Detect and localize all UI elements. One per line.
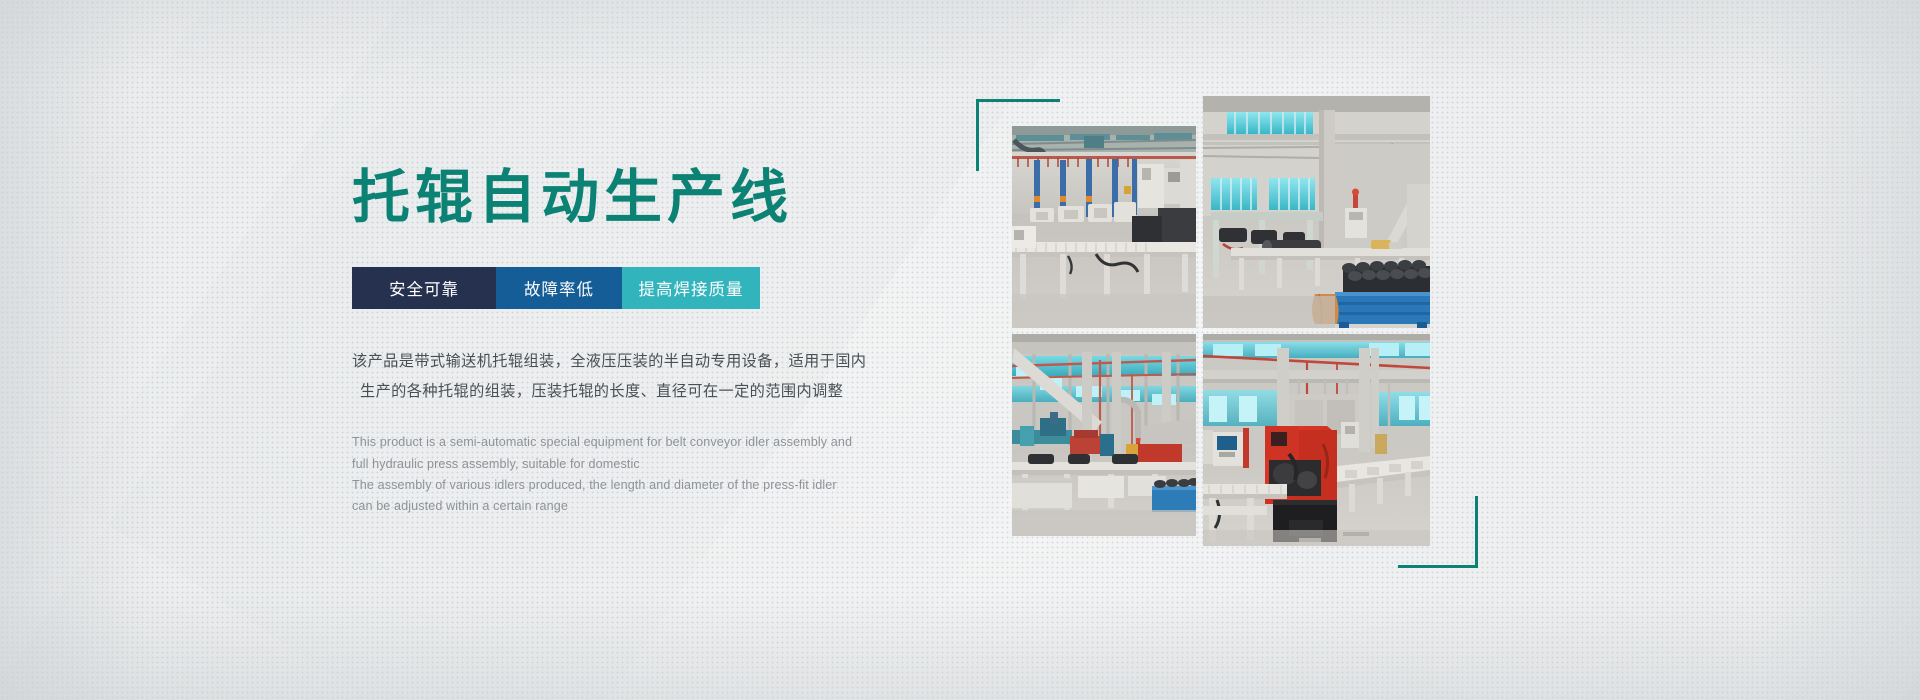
description-english-line-1: This product is a semi-automatic special… [352, 432, 912, 452]
photo-grid [1012, 96, 1430, 546]
feature-badge-safety[interactable]: 安全可靠 [352, 267, 496, 309]
text-column: 托辊自动生产线 安全可靠 故障率低 提高焊接质量 该产品是带式输送机托辊组装，全… [352, 166, 972, 517]
feature-badge-weld-quality[interactable]: 提高焊接质量 [622, 267, 760, 309]
photo-idler-storage-bin[interactable] [1203, 96, 1430, 328]
feature-badge-low-failure[interactable]: 故障率低 [496, 267, 622, 309]
page-title: 托辊自动生产线 [352, 166, 972, 231]
description-english-line-3: The assembly of various idlers produced,… [352, 475, 912, 495]
description-english-line-2: full hydraulic press assembly, suitable … [352, 454, 912, 474]
bracket-vertical-bar [1475, 496, 1478, 568]
photo-conveyor-roller-line[interactable] [1012, 126, 1196, 328]
photo-assembly-workshop[interactable] [1012, 334, 1196, 536]
description-english-line-4: can be adjusted within a certain range [352, 496, 912, 516]
description-chinese-line-2: 生产的各种托辊的组装，压装托辊的长度、直径可在一定的范围内调整 [352, 377, 952, 407]
photo-red-welding-press[interactable] [1203, 334, 1430, 546]
description-english: This product is a semi-automatic special… [352, 432, 912, 517]
product-banner: 托辊自动生产线 安全可靠 故障率低 提高焊接质量 该产品是带式输送机托辊组装，全… [0, 0, 1920, 700]
photo-gallery [1012, 96, 1430, 546]
description-chinese-line-1: 该产品是带式输送机托辊组装，全液压压装的半自动专用设备，适用于国内 [352, 347, 952, 377]
description-chinese: 该产品是带式输送机托辊组装，全液压压装的半自动专用设备，适用于国内 生产的各种托… [352, 347, 952, 406]
bracket-vertical-bar [976, 99, 979, 171]
feature-badge-group: 安全可靠 故障率低 提高焊接质量 [352, 267, 760, 309]
bracket-horizontal-bar [1398, 565, 1478, 568]
